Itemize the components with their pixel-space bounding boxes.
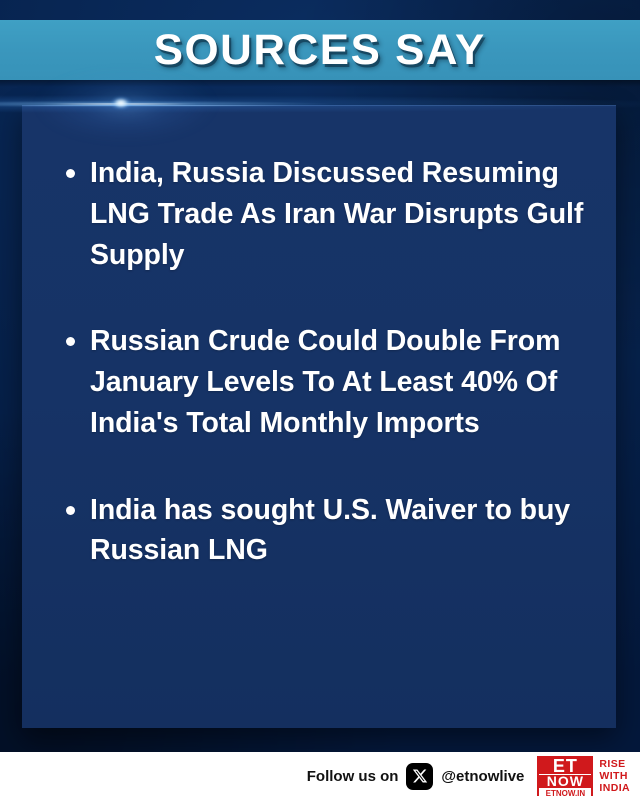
tagline-line-3: INDIA (599, 783, 630, 794)
list-item-text: India, Russia Discussed Resuming LNG Tra… (90, 157, 583, 271)
etnow-logo-mark: ET NOW ETNOW.IN (537, 756, 593, 796)
bullet-dot-icon (66, 337, 75, 346)
etnow-logo-url: ETNOW.IN (539, 789, 591, 798)
news-graphic: SOURCES SAY India, Russia Discussed Resu… (0, 0, 640, 800)
list-item: India, Russia Discussed Resuming LNG Tra… (66, 153, 594, 275)
follow-label: Follow us on (307, 768, 399, 785)
graphic-background: SOURCES SAY India, Russia Discussed Resu… (0, 0, 640, 752)
bullet-dot-icon (66, 169, 75, 178)
etnow-logo: ET NOW ETNOW.IN RISE WITH INDIA (537, 756, 632, 796)
etnow-tagline: RISE WITH INDIA (593, 756, 632, 796)
footer-bar: Follow us on @etnowlive ET NOW ETNOW.IN … (0, 752, 640, 800)
content-card: India, Russia Discussed Resuming LNG Tra… (22, 105, 616, 728)
follow-group: Follow us on @etnowlive (307, 763, 525, 790)
header-banner: SOURCES SAY (0, 20, 640, 80)
page-title: SOURCES SAY (154, 29, 486, 72)
list-item: India has sought U.S. Waiver to buy Russ… (66, 490, 594, 572)
etnow-logo-now: NOW (539, 774, 591, 789)
etnow-logo-et: ET (539, 758, 591, 774)
headline-list: India, Russia Discussed Resuming LNG Tra… (66, 153, 594, 571)
banner-drop-shadow (0, 80, 640, 87)
list-item-text: Russian Crude Could Double From January … (90, 325, 560, 439)
tagline-line-1: RISE (599, 759, 630, 770)
x-twitter-icon[interactable] (406, 763, 433, 790)
social-handle[interactable]: @etnowlive (441, 768, 524, 785)
list-item: Russian Crude Could Double From January … (66, 321, 594, 443)
list-item-text: India has sought U.S. Waiver to buy Russ… (90, 494, 570, 567)
bullet-dot-icon (66, 506, 75, 515)
tagline-line-2: WITH (599, 771, 630, 782)
